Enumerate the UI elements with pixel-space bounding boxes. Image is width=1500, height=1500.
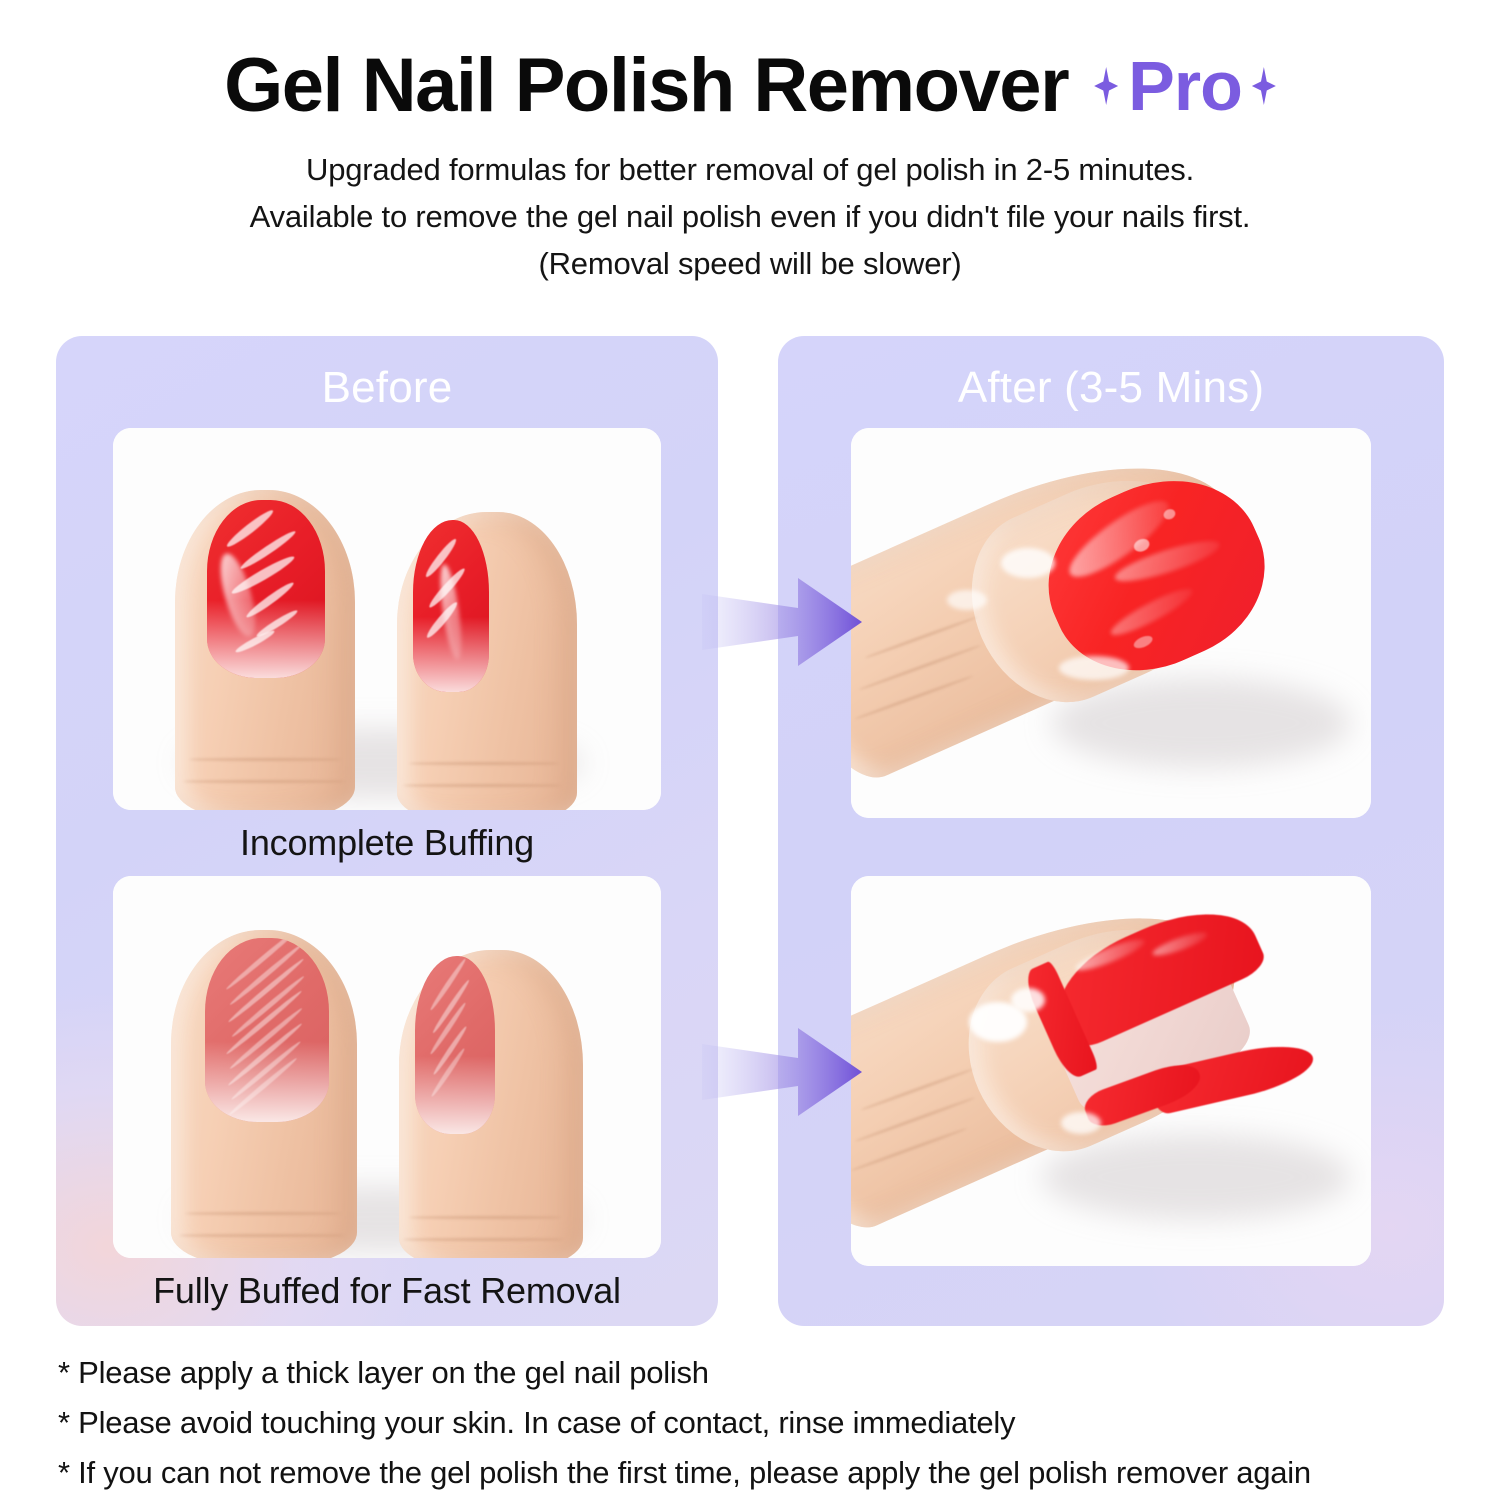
subtitle-block: Upgraded formulas for better removal of … <box>0 146 1500 287</box>
before-panel-header: Before <box>56 336 718 412</box>
photo-card-incomplete-buffing <box>113 428 661 810</box>
pro-badge: Pro <box>1094 51 1276 121</box>
photo-two-fingers-glossy <box>113 428 661 810</box>
usage-notes: * Please apply a thick layer on the gel … <box>58 1348 1458 1499</box>
subtitle-line-1: Upgraded formulas for better removal of … <box>0 146 1500 193</box>
caption-incomplete-buffing: Incomplete Buffing <box>56 822 718 864</box>
after-panel: After (3-5 Mins) <box>778 336 1444 1326</box>
note-item: * Please avoid touching your skin. In ca… <box>58 1398 1458 1448</box>
before-after-comparison: Before <box>56 336 1444 1326</box>
page-title: Gel Nail Polish Remover <box>224 48 1068 124</box>
photo-card-fully-buffed <box>113 876 661 1258</box>
sparkle-diamond-icon <box>1252 67 1276 105</box>
before-panel: Before <box>56 336 718 1326</box>
photo-finger-softened-gel <box>851 428 1371 818</box>
subtitle-line-3: (Removal speed will be slower) <box>0 240 1500 287</box>
photo-card-after-softened <box>851 428 1371 818</box>
title-row: Gel Nail Polish Remover Pro <box>0 48 1500 124</box>
after-panel-header: After (3-5 Mins) <box>778 336 1444 412</box>
photo-two-fingers-buffed <box>113 876 661 1258</box>
subtitle-line-2: Available to remove the gel nail polish … <box>0 193 1500 240</box>
photo-finger-peeling-gel <box>851 876 1371 1266</box>
caption-fully-buffed: Fully Buffed for Fast Removal <box>56 1270 718 1312</box>
pro-badge-label: Pro <box>1128 51 1242 121</box>
sparkle-diamond-icon <box>1094 67 1118 105</box>
page-header: Gel Nail Polish Remover Pro Upgraded for… <box>0 0 1500 287</box>
photo-card-after-peeling <box>851 876 1371 1266</box>
note-item: * If you can not remove the gel polish t… <box>58 1448 1458 1498</box>
note-item: * Please apply a thick layer on the gel … <box>58 1348 1458 1398</box>
